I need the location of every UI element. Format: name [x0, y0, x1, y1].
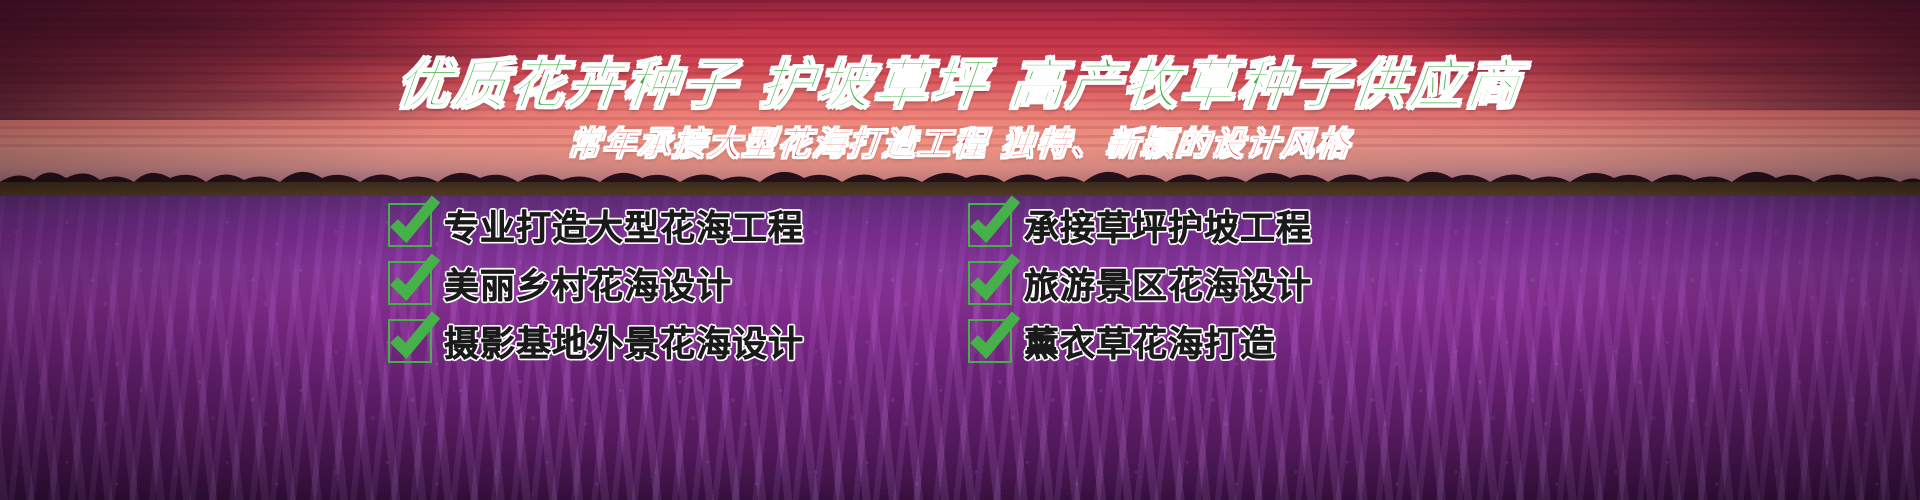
check-icon: [968, 319, 1012, 363]
feature-list: 专业打造大型花海工程 承接草坪护坡工程 美丽乡村花海设计 旅游景区花海设计 摄影: [388, 196, 1548, 370]
feature-item-5: 摄影基地外景花海设计: [388, 316, 808, 367]
subhead-container: 常年承接大型花海打造工程 独特、新颖的设计风格: [0, 117, 1920, 165]
feature-item-4: 旅游景区花海设计: [968, 258, 1388, 309]
page-subtitle: 常年承接大型花海打造工程 独特、新颖的设计风格: [566, 117, 1355, 165]
feature-item-2: 承接草坪护坡工程: [968, 200, 1388, 251]
check-icon: [968, 261, 1012, 305]
promo-banner: 优质花卉种子 护坡草坪 高产牧草种子供应商 常年承接大型花海打造工程 独特、新颖…: [0, 0, 1920, 500]
page-title: 优质花卉种子 护坡草坪 高产牧草种子供应商: [393, 40, 1528, 119]
check-icon: [968, 203, 1012, 247]
feature-label-2: 承接草坪护坡工程: [1024, 200, 1312, 251]
check-icon: [388, 203, 432, 247]
check-icon: [388, 261, 432, 305]
feature-item-3: 美丽乡村花海设计: [388, 258, 808, 309]
feature-label-6: 薰衣草花海打造: [1024, 316, 1276, 367]
feature-label-4: 旅游景区花海设计: [1024, 258, 1312, 309]
feature-label-1: 专业打造大型花海工程: [444, 200, 804, 251]
feature-label-5: 摄影基地外景花海设计: [444, 316, 804, 367]
feature-item-6: 薰衣草花海打造: [968, 316, 1388, 367]
feature-item-1: 专业打造大型花海工程: [388, 200, 808, 251]
feature-label-3: 美丽乡村花海设计: [444, 258, 732, 309]
headline-container: 优质花卉种子 护坡草坪 高产牧草种子供应商: [0, 40, 1920, 119]
check-icon: [388, 319, 432, 363]
